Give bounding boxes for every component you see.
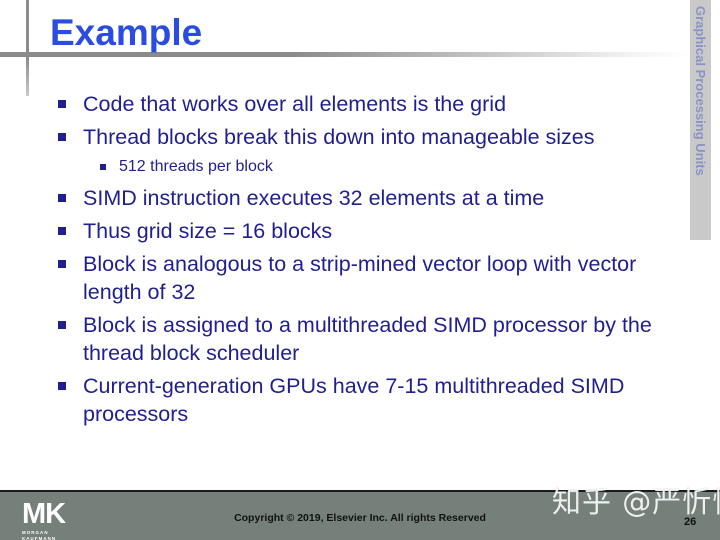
square-bullet-icon (100, 164, 106, 170)
square-bullet-icon (58, 227, 66, 235)
list-item-text: SIMD instruction executes 32 elements at… (83, 184, 698, 212)
square-bullet-icon (58, 133, 66, 141)
square-bullet-icon (58, 100, 66, 108)
list-item: Code that works over all elements is the… (58, 90, 698, 118)
square-bullet-icon (58, 382, 66, 390)
list-item: Current-generation GPUs have 7-15 multit… (58, 372, 698, 428)
square-bullet-icon (58, 194, 66, 202)
list-item-text: Current-generation GPUs have 7-15 multit… (83, 372, 698, 428)
bullet-list: Code that works over all elements is the… (58, 90, 698, 433)
logo-subtitle-text: MORGAN KAUFMANN (22, 530, 84, 540)
title-vertical-rule (26, 0, 29, 96)
square-bullet-icon (58, 321, 66, 329)
list-item-text: Block is analogous to a strip-mined vect… (83, 250, 698, 306)
copyright-text: Copyright © 2019, Elsevier Inc. All righ… (0, 512, 720, 524)
list-item-text: Block is assigned to a multithreaded SIM… (83, 311, 698, 367)
list-item: Block is analogous to a strip-mined vect… (58, 250, 698, 306)
list-item-sub: 512 threads per block (100, 156, 698, 178)
list-item-text: 512 threads per block (119, 156, 698, 178)
square-bullet-icon (58, 260, 66, 268)
list-item: SIMD instruction executes 32 elements at… (58, 184, 698, 212)
list-item-text: Thread blocks break this down into manag… (83, 123, 698, 151)
page-title: Example (50, 11, 202, 55)
list-item: Block is assigned to a multithreaded SIM… (58, 311, 698, 367)
list-item: Thus grid size = 16 blocks (58, 217, 698, 245)
list-item: Thread blocks break this down into manag… (58, 123, 698, 151)
page-number: 26 (684, 516, 696, 528)
list-item-text: Thus grid size = 16 blocks (83, 217, 698, 245)
list-item-text: Code that works over all elements is the… (83, 90, 698, 118)
slide-canvas: Example Graphical Processing Units Code … (0, 0, 720, 540)
